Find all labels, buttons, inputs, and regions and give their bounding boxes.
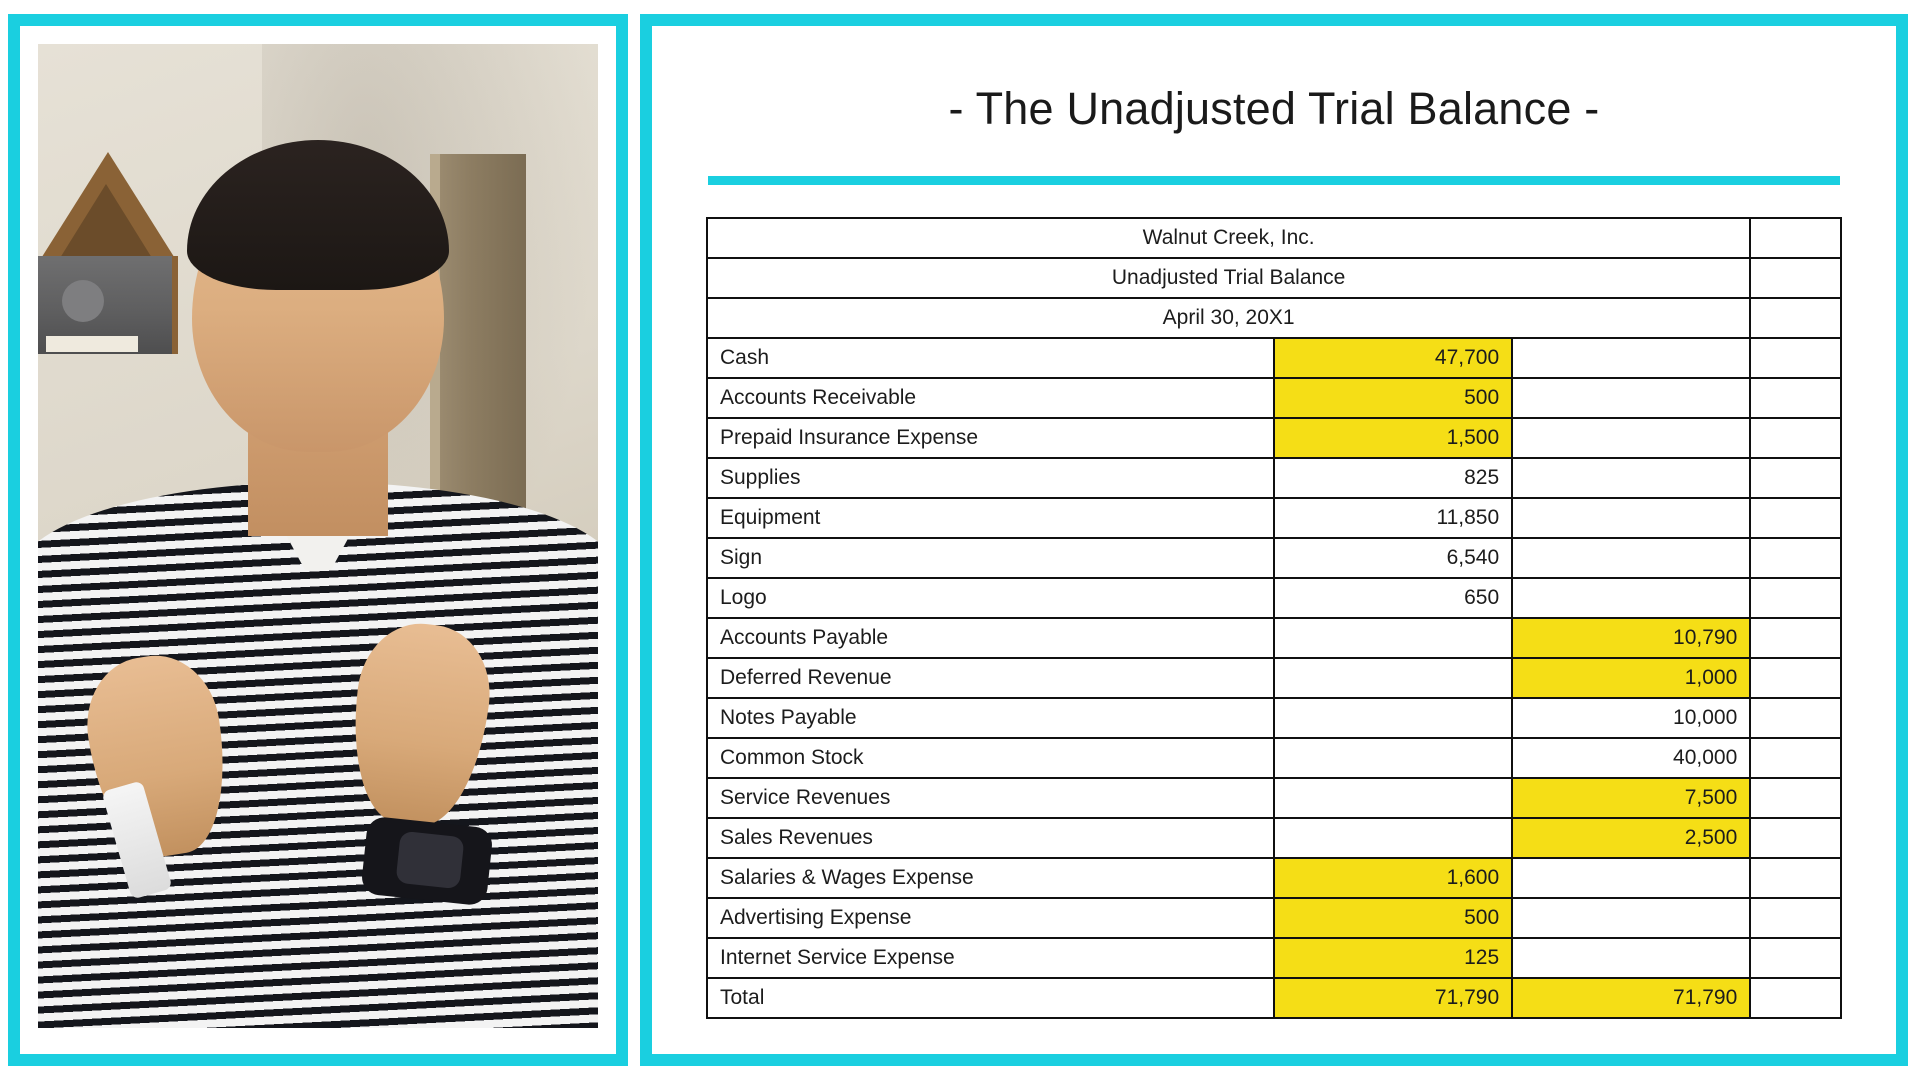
- spacer-cell: [1750, 898, 1841, 938]
- company-name-cell: Walnut Creek, Inc.: [707, 218, 1750, 258]
- spacer-cell: [1750, 658, 1841, 698]
- spacer-cell: [1750, 418, 1841, 458]
- account-name-cell: Sales Revenues: [707, 818, 1274, 858]
- spacer-cell: [1750, 818, 1841, 858]
- credit-amount-cell: [1512, 538, 1750, 578]
- webcam-video-frame[interactable]: [38, 44, 598, 1028]
- table-row: Equipment11,850: [707, 498, 1841, 538]
- spacer-cell: [1750, 778, 1841, 818]
- debit-amount-cell: [1274, 618, 1512, 658]
- credit-amount-cell: [1512, 338, 1750, 378]
- credit-amount-cell: [1512, 418, 1750, 458]
- webcam-scene: [38, 44, 598, 1028]
- slide-canvas: - The Unadjusted Trial Balance - Walnut …: [0, 0, 1920, 1080]
- table-row: Notes Payable10,000: [707, 698, 1841, 738]
- table-row: Accounts Receivable500: [707, 378, 1841, 418]
- account-name-cell: Notes Payable: [707, 698, 1274, 738]
- table-row: Sales Revenues2,500: [707, 818, 1841, 858]
- table-row: Service Revenues7,500: [707, 778, 1841, 818]
- account-name-cell: Cash: [707, 338, 1274, 378]
- spacer-cell: [1750, 258, 1841, 298]
- table-row: Salaries & Wages Expense1,600: [707, 858, 1841, 898]
- debit-amount-cell: 1,600: [1274, 858, 1512, 898]
- spacer-cell: [1750, 498, 1841, 538]
- slide-panel: - The Unadjusted Trial Balance - Walnut …: [640, 14, 1908, 1066]
- webcam-panel: [8, 14, 628, 1066]
- debit-amount-cell: [1274, 738, 1512, 778]
- credit-amount-cell: 10,790: [1512, 618, 1750, 658]
- spacer-cell: [1750, 858, 1841, 898]
- credit-amount-cell: [1512, 898, 1750, 938]
- spacer-cell: [1750, 618, 1841, 658]
- account-name-cell: Advertising Expense: [707, 898, 1274, 938]
- spacer-cell: [1750, 698, 1841, 738]
- account-name-cell: Prepaid Insurance Expense: [707, 418, 1274, 458]
- credit-amount-cell: [1512, 578, 1750, 618]
- table-heading-row: April 30, 20X1: [707, 298, 1841, 338]
- credit-amount-cell: 1,000: [1512, 658, 1750, 698]
- account-name-cell: Total: [707, 978, 1274, 1018]
- table-row: Accounts Payable10,790: [707, 618, 1841, 658]
- debit-amount-cell: 11,850: [1274, 498, 1512, 538]
- debit-amount-cell: 650: [1274, 578, 1512, 618]
- debit-amount-cell: 1,500: [1274, 418, 1512, 458]
- spacer-cell: [1750, 978, 1841, 1018]
- table-row: Supplies825: [707, 458, 1841, 498]
- debit-amount-cell: 125: [1274, 938, 1512, 978]
- trial-balance-table: Walnut Creek, Inc. Unadjusted Trial Bala…: [706, 217, 1842, 1019]
- wall-decor-label: [46, 336, 138, 352]
- table-row: Logo650: [707, 578, 1841, 618]
- credit-amount-cell: 7,500: [1512, 778, 1750, 818]
- table-heading-row: Unadjusted Trial Balance: [707, 258, 1841, 298]
- debit-amount-cell: [1274, 778, 1512, 818]
- credit-amount-cell: [1512, 378, 1750, 418]
- account-name-cell: Accounts Receivable: [707, 378, 1274, 418]
- spacer-cell: [1750, 938, 1841, 978]
- spacer-cell: [1750, 578, 1841, 618]
- spacer-cell: [1750, 738, 1841, 778]
- account-name-cell: Equipment: [707, 498, 1274, 538]
- spacer-cell: [1750, 218, 1841, 258]
- debit-amount-cell: [1274, 658, 1512, 698]
- wristwatch-face: [395, 831, 464, 889]
- credit-amount-cell: 40,000: [1512, 738, 1750, 778]
- spacer-cell: [1750, 378, 1841, 418]
- table-row: Total71,79071,790: [707, 978, 1841, 1018]
- table-row: Prepaid Insurance Expense1,500: [707, 418, 1841, 458]
- table-row: Sign6,540: [707, 538, 1841, 578]
- debit-amount-cell: 500: [1274, 898, 1512, 938]
- table-row: Advertising Expense500: [707, 898, 1841, 938]
- debit-amount-cell: 47,700: [1274, 338, 1512, 378]
- credit-amount-cell: [1512, 498, 1750, 538]
- account-name-cell: Accounts Payable: [707, 618, 1274, 658]
- spacer-cell: [1750, 298, 1841, 338]
- account-name-cell: Deferred Revenue: [707, 658, 1274, 698]
- spacer-cell: [1750, 458, 1841, 498]
- debit-amount-cell: 825: [1274, 458, 1512, 498]
- account-name-cell: Salaries & Wages Expense: [707, 858, 1274, 898]
- debit-amount-cell: 500: [1274, 378, 1512, 418]
- table-row: Cash47,700: [707, 338, 1841, 378]
- page-title: - The Unadjusted Trial Balance -: [706, 84, 1842, 134]
- account-name-cell: Internet Service Expense: [707, 938, 1274, 978]
- statement-name-cell: Unadjusted Trial Balance: [707, 258, 1750, 298]
- statement-date-cell: April 30, 20X1: [707, 298, 1750, 338]
- table-row: Common Stock40,000: [707, 738, 1841, 778]
- credit-amount-cell: 2,500: [1512, 818, 1750, 858]
- spacer-cell: [1750, 338, 1841, 378]
- debit-amount-cell: 6,540: [1274, 538, 1512, 578]
- trial-balance-body: Walnut Creek, Inc. Unadjusted Trial Bala…: [707, 218, 1841, 1018]
- account-name-cell: Common Stock: [707, 738, 1274, 778]
- title-underline-rule: [708, 176, 1840, 185]
- account-name-cell: Service Revenues: [707, 778, 1274, 818]
- credit-amount-cell: [1512, 458, 1750, 498]
- account-name-cell: Sign: [707, 538, 1274, 578]
- table-row: Deferred Revenue1,000: [707, 658, 1841, 698]
- spacer-cell: [1750, 538, 1841, 578]
- debit-amount-cell: 71,790: [1274, 978, 1512, 1018]
- table-heading-row: Walnut Creek, Inc.: [707, 218, 1841, 258]
- door-frame: [430, 154, 526, 524]
- debit-amount-cell: [1274, 698, 1512, 738]
- credit-amount-cell: [1512, 858, 1750, 898]
- credit-amount-cell: 10,000: [1512, 698, 1750, 738]
- debit-amount-cell: [1274, 818, 1512, 858]
- slide-content: - The Unadjusted Trial Balance - Walnut …: [652, 26, 1896, 1054]
- account-name-cell: Logo: [707, 578, 1274, 618]
- triangle-shelf-inner: [60, 184, 152, 258]
- table-row: Internet Service Expense125: [707, 938, 1841, 978]
- wall-decor-circle: [62, 280, 104, 322]
- account-name-cell: Supplies: [707, 458, 1274, 498]
- credit-amount-cell: [1512, 938, 1750, 978]
- credit-amount-cell: 71,790: [1512, 978, 1750, 1018]
